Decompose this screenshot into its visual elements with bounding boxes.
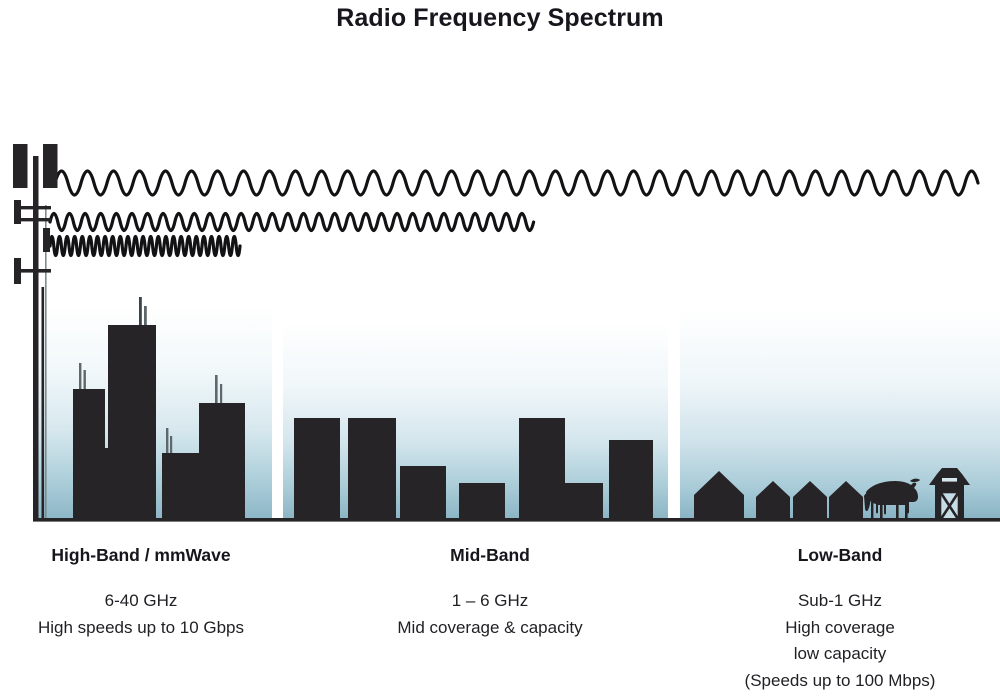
building-spire-4 xyxy=(144,306,147,327)
band-description-low: High coverage xyxy=(680,615,1000,642)
building-mid-5 xyxy=(519,418,565,520)
barn-window xyxy=(942,478,957,482)
band-description-high: High speeds up to 10 Gbps xyxy=(0,615,282,642)
band-title-low: Low-Band xyxy=(680,545,1000,566)
building-spire-7 xyxy=(215,375,218,406)
building-mid-3 xyxy=(400,466,446,520)
medium-wave-path xyxy=(50,214,534,231)
tower-crossarm-upper xyxy=(21,206,51,209)
building-high-3 xyxy=(108,325,156,520)
band-frequency-low: Sub-1 GHz xyxy=(680,588,1000,615)
band-description3-low: (Speeds up to 100 Mbps) xyxy=(680,668,1000,695)
building-high-1 xyxy=(73,389,105,520)
building-mid-7 xyxy=(609,440,653,520)
band-labels: High-Band / mmWave 6-40 GHz High speeds … xyxy=(0,545,1000,700)
band-frequency-mid: 1 – 6 GHz xyxy=(300,588,680,615)
band-block-low: Low-Band Sub-1 GHz High coverage low cap… xyxy=(680,545,1000,694)
building-mid-2 xyxy=(348,418,396,520)
antenna-panel-top-left xyxy=(13,144,28,188)
band-title-mid: Mid-Band xyxy=(300,545,680,566)
band-block-high: High-Band / mmWave 6-40 GHz High speeds … xyxy=(0,545,282,641)
building-spire-3 xyxy=(139,297,142,327)
antenna-panel-mid-left xyxy=(14,200,21,224)
long-wave-path xyxy=(55,171,978,195)
building-mid-4 xyxy=(459,483,505,520)
tower-crossarm-lower xyxy=(21,269,51,273)
band-block-mid: Mid-Band 1 – 6 GHz Mid coverage & capaci… xyxy=(300,545,680,641)
band-description2-low: low capacity xyxy=(680,641,1000,668)
band-title-high: High-Band / mmWave xyxy=(0,545,282,566)
band-description-mid: Mid coverage & capacity xyxy=(300,615,680,642)
infographic-canvas: Radio Frequency Spectrum xyxy=(0,0,1000,700)
building-high-5 xyxy=(199,403,245,520)
short-wave-path xyxy=(50,237,240,256)
tower-mast-thin xyxy=(45,205,47,520)
antenna-panel-lower xyxy=(14,258,21,284)
building-mid-6 xyxy=(565,483,603,520)
band-frequency-high: 6-40 GHz xyxy=(0,588,282,615)
radio-waves xyxy=(50,171,978,256)
antenna-panel-mid-right xyxy=(43,228,50,252)
tower-crossarm-upper2 xyxy=(21,218,51,221)
ground-line xyxy=(33,518,1000,522)
antenna-panel-top-right xyxy=(43,144,58,188)
tower-mast-secondary xyxy=(42,287,45,520)
tower-mast-main xyxy=(33,156,39,520)
building-mid-1 xyxy=(294,418,340,520)
building-high-4 xyxy=(162,453,204,520)
building-spire-8 xyxy=(220,384,222,406)
building-spire-5 xyxy=(166,428,168,456)
